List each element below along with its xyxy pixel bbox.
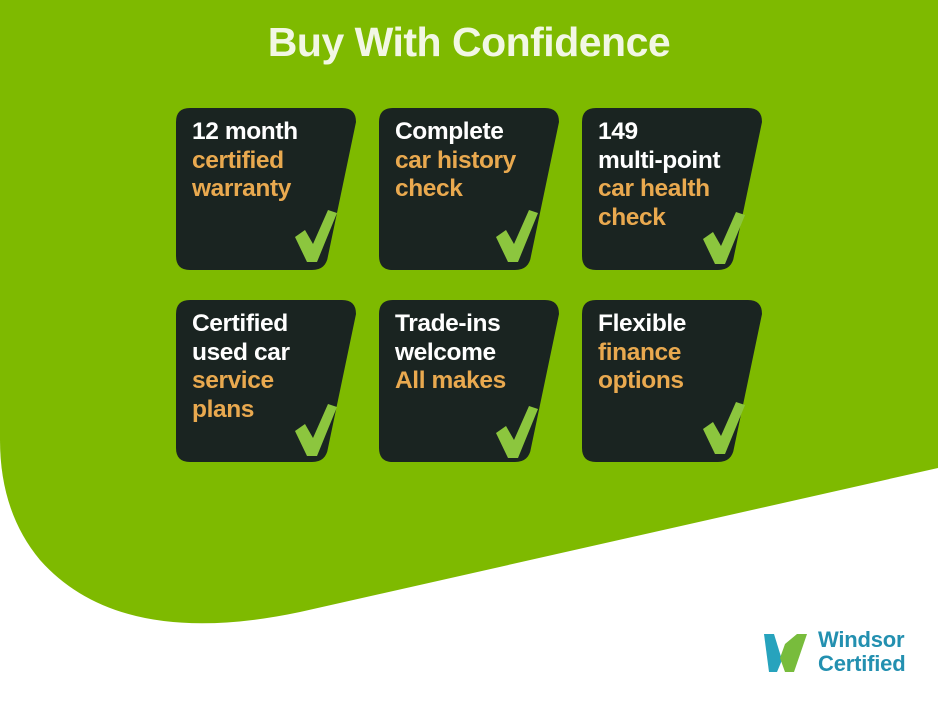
- card-line-white: Trade-ins: [395, 310, 539, 339]
- check-mark-icon: [700, 400, 746, 456]
- card-line-orange: certified: [192, 147, 336, 176]
- card-text-block: 12 month certified warranty: [192, 118, 336, 204]
- card-line-orange: All makes: [395, 367, 539, 396]
- check-mark-icon: [292, 402, 338, 458]
- card-line-white: welcome: [395, 339, 539, 368]
- card-line-orange: car history: [395, 147, 539, 176]
- card-line-orange: finance: [598, 339, 742, 368]
- card-line-orange: service: [192, 367, 336, 396]
- card-line-white: 149: [598, 118, 742, 147]
- card-line-orange: options: [598, 367, 742, 396]
- benefit-card-certified-warranty[interactable]: 12 month certified warranty: [176, 108, 356, 270]
- check-mark-icon: [493, 404, 539, 460]
- check-mark-icon: [292, 208, 338, 264]
- check-mark-icon: [700, 210, 746, 266]
- card-line-white: Certified: [192, 310, 336, 339]
- card-line-orange: car health: [598, 175, 742, 204]
- card-line-white: used car: [192, 339, 336, 368]
- card-text-block: Trade-ins welcome All makes: [395, 310, 539, 396]
- card-text-block: Complete car history check: [395, 118, 539, 204]
- card-line-white: 12 month: [192, 118, 336, 147]
- benefit-card-flexible-finance[interactable]: Flexible finance options: [582, 300, 762, 462]
- benefit-card-service-plans[interactable]: Certified used car service plans: [176, 300, 356, 462]
- benefits-card-grid: 12 month certified warranty Complete car…: [176, 108, 761, 492]
- windsor-certified-logo[interactable]: Windsor Certified: [761, 628, 905, 676]
- card-row-top: 12 month certified warranty Complete car…: [176, 108, 761, 270]
- card-line-white: Flexible: [598, 310, 742, 339]
- logo-line-certified: Certified: [818, 652, 905, 676]
- card-row-bottom: Certified used car service plans Trade-i…: [176, 300, 761, 462]
- card-line-orange: check: [395, 175, 539, 204]
- logo-wordmark: Windsor Certified: [818, 628, 905, 676]
- card-line-orange: warranty: [192, 175, 336, 204]
- benefit-card-multi-point-health-check[interactable]: 149 multi-point car health check: [582, 108, 762, 270]
- logo-line-windsor: Windsor: [818, 628, 905, 652]
- windsor-w-icon: [761, 630, 809, 674]
- check-mark-icon: [493, 208, 539, 264]
- promo-banner: Buy With Confidence 12 month certified w…: [0, 0, 938, 704]
- card-line-white: Complete: [395, 118, 539, 147]
- card-text-block: Flexible finance options: [598, 310, 742, 396]
- card-line-white: multi-point: [598, 147, 742, 176]
- benefit-card-car-history-check[interactable]: Complete car history check: [379, 108, 559, 270]
- page-title: Buy With Confidence: [0, 19, 938, 66]
- benefit-card-trade-ins[interactable]: Trade-ins welcome All makes: [379, 300, 559, 462]
